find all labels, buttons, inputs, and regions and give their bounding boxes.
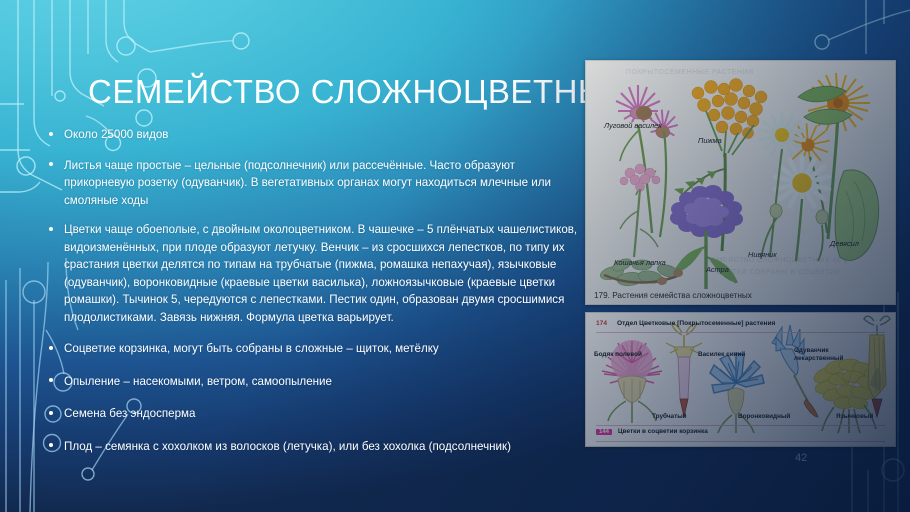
list-item: Листья чаще простые – цельные (подсолнеч… [40,157,585,210]
flower-tubular-single [666,324,702,417]
caption-text: Цветки в соцветии корзинка [618,428,708,435]
figure-top-caption: 179. Растения семейства сложноцветных [594,291,889,300]
plant-label-oxeye: Нивяник [748,250,777,259]
textbook-page-number: 174 [596,320,607,327]
bullet-dot-icon [49,162,53,166]
list-item-text: Около 25000 видов [64,128,168,141]
flower-type-label-tubular: Трубчатый [652,413,687,420]
bullet-dot-icon [49,443,53,447]
plant-knapweed [616,85,680,237]
list-item-text: Опыление – насекомыми, ветром, самоопыле… [64,375,332,388]
list-item-text: Семена без эндосперма [64,407,195,420]
plant-label-knapweed: Луговой василек [604,121,662,130]
list-item-text: Цветки чаще обоеполые, с двойным околоцв… [64,223,577,324]
figure-flower-types[interactable]: 174Отдел Цветковые [Покрытосеменные] рас… [585,312,896,447]
plant-label-tansy: Пижма [698,136,722,145]
bullet-dot-icon [49,227,53,231]
textbook-header: 174Отдел Цветковые [Покрытосеменные] рас… [596,320,885,327]
bullet-list: Около 25000 видов Листья чаще простые – … [40,126,585,455]
flower-type-label-funnel: Воронковидный [738,413,790,420]
list-item: Плод – семянка с хохолком из волосков (л… [40,438,585,456]
flower-label-cornflower: Василек синий [698,351,745,358]
flower-funnel-single [772,325,818,417]
bullet-dot-icon [49,411,53,415]
list-item-text: Соцветие корзинка, могут быть собраны в … [64,342,439,355]
bullet-dot-icon [49,378,53,382]
presentation-slide: СЕМЕЙСТВО СЛОЖНОЦВЕТНЫЕ Около 25000 видо… [0,0,910,512]
slide-page-number: 42 [795,452,807,464]
footer-divider-2 [596,441,885,442]
list-item: Соцветие корзинка, могут быть собраны в … [40,340,585,358]
list-item: Семена без эндосперма [40,405,585,423]
caption-badge: 144 [596,429,612,435]
figure-bottom-caption: 144Цветки в соцветии корзинка [596,428,708,435]
footer-divider [596,425,885,426]
plant-label-cats-foot: Кошачья лапка [614,258,666,267]
plant-label-elecampane: Девясил [830,239,859,248]
figure-paper: ПОКРЫТОСЕМЕННЫЕ РАСТЕНИЯ СЕМЕЙСТВО СЛОЖН… [586,61,895,304]
flower-cornflower-head [710,353,764,433]
textbook-header-title: Отдел Цветковые [Покрытосеменные] растен… [617,320,775,327]
list-item: Около 25000 видов [40,126,585,144]
flower-label-thistle: Бодяк полевой [594,351,642,358]
figure-paper: 174Отдел Цветковые [Покрытосеменные] рас… [586,313,895,446]
header-divider [596,332,885,333]
list-item: Цветки чаще обоеполые, с двойным околоцв… [40,221,585,326]
plant-cats-foot [599,164,683,287]
list-item-text: Листья чаще простые – цельные (подсолнеч… [64,159,551,207]
flower-label-dandelion: Одуванчик лекарственный [794,347,856,363]
figure-asteraceae-plants[interactable]: ПОКРЫТОСЕМЕННЫЕ РАСТЕНИЯ СЕМЕЙСТВО СЛОЖН… [585,60,896,305]
list-item: Опыление – насекомыми, ветром, самоопыле… [40,373,585,391]
list-item-text: Плод – семянка с хохолком из волосков (л… [64,440,511,453]
bullet-dot-icon [49,132,53,136]
slide-title: СЕМЕЙСТВО СЛОЖНОЦВЕТНЫЕ [88,72,608,112]
plant-label-aster: Астра [706,265,729,274]
flower-type-label-ligulate: Язычковый [836,413,873,420]
bullet-dot-icon [49,346,53,350]
